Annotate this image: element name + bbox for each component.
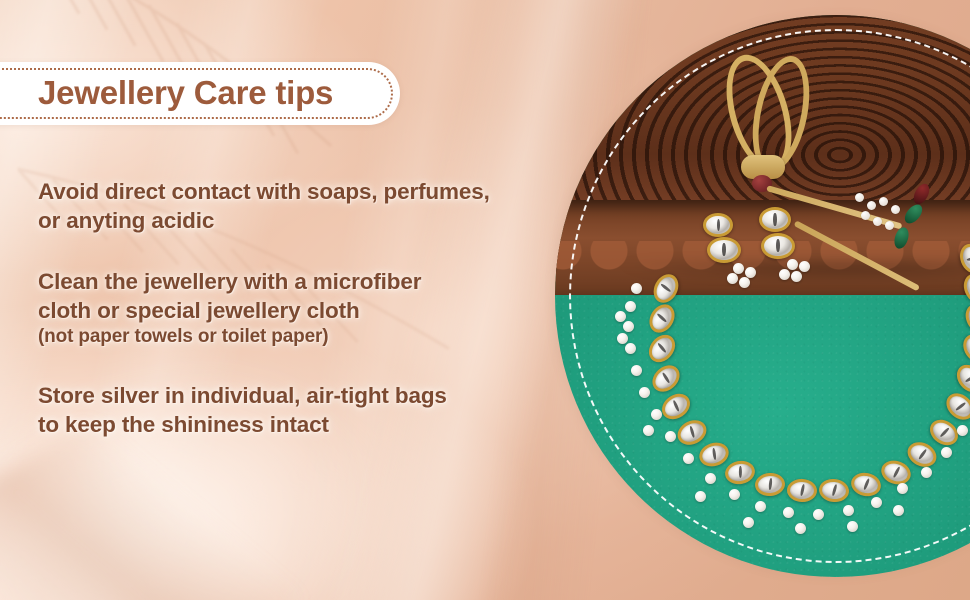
tip-line: Clean the jewellery with a microfiber — [38, 268, 558, 297]
jewellery-photo-circle — [555, 15, 970, 577]
care-tips-list: Avoid direct contact with soaps, perfume… — [38, 178, 558, 440]
pearl-drop — [843, 505, 854, 516]
kundan-stone — [657, 389, 695, 425]
pearl-drop — [893, 505, 904, 516]
page-title: Jewellery Care tips — [38, 74, 333, 112]
pearl-drop — [695, 491, 706, 502]
kundan-stone — [644, 330, 681, 368]
kundan-stone — [959, 270, 970, 307]
tip-line: to keep the shininess intact — [38, 411, 558, 440]
pearl-drop — [623, 321, 634, 332]
pearl-drop — [941, 447, 952, 458]
pearl-drop — [651, 409, 662, 420]
tip-line: Store silver in individual, air-tight ba… — [38, 382, 558, 411]
earring-right-pearl — [779, 269, 790, 280]
tip-line: Avoid direct contact with soaps, perfume… — [38, 178, 558, 207]
kundan-stone — [673, 416, 710, 450]
pearl-drop — [897, 483, 908, 494]
pearl-drop — [631, 365, 642, 376]
kundan-stone — [958, 330, 970, 368]
kundan-stone — [903, 438, 940, 472]
kundan-stone — [961, 300, 970, 337]
pearl-drop — [871, 497, 882, 508]
kundan-stone — [787, 478, 818, 502]
kundan-stone — [723, 459, 757, 487]
tip-avoid-chemicals: Avoid direct contact with soaps, perfume… — [38, 178, 558, 235]
pearl-drop — [615, 311, 626, 322]
earring-left-pearl — [727, 273, 738, 284]
pearl-drop — [847, 521, 858, 532]
pearl-drop — [683, 453, 694, 464]
earring-right-pearl — [791, 271, 802, 282]
pearl-drop — [795, 523, 806, 534]
pearl-drop — [813, 509, 824, 520]
pearl-drop — [643, 425, 654, 436]
earring-right-drop — [761, 233, 795, 259]
earring-left-stud — [703, 213, 733, 237]
pearl-drop — [743, 517, 754, 528]
tip-clean-microfiber: Clean the jewellery with a microfiber cl… — [38, 268, 558, 349]
kundan-stone — [649, 270, 683, 307]
earring-left-pearl — [745, 267, 756, 278]
pearl-drop — [755, 501, 766, 512]
pearl-drop — [665, 431, 676, 442]
earring-right-pearl — [799, 261, 810, 272]
kundan-stone — [956, 240, 970, 276]
jewellery-photo — [555, 15, 970, 577]
kundan-stone — [878, 457, 914, 488]
kundan-stone — [647, 360, 685, 397]
pearl-drop — [921, 467, 932, 478]
kundan-stone — [644, 300, 679, 338]
pearl-drop — [625, 301, 636, 312]
tip-line: or anyting acidic — [38, 207, 558, 236]
tip-line-note: (not paper towels or toilet paper) — [38, 325, 558, 349]
kundan-stone — [952, 360, 970, 398]
pearl-drop — [639, 387, 650, 398]
kundan-stone — [754, 472, 786, 497]
pearl-drop — [631, 283, 642, 294]
earring-right-stud — [759, 207, 791, 232]
jewellery-care-tips-banner: Jewellery Care tips Avoid direct contact… — [0, 0, 970, 600]
tip-line: cloth or special jewellery cloth — [38, 297, 558, 326]
kundan-stone — [818, 477, 850, 503]
tip-store-airtight: Store silver in individual, air-tight ba… — [38, 382, 558, 439]
kundan-stone — [849, 470, 883, 499]
earring-left-pearl — [733, 263, 744, 274]
earring-left-drop — [707, 237, 741, 263]
earring-left-pearl — [739, 277, 750, 288]
pearl-drop — [783, 507, 794, 518]
pearl-drop — [957, 425, 968, 436]
title-badge: Jewellery Care tips — [0, 62, 400, 125]
kundan-necklace — [555, 15, 970, 577]
pearl-drop — [705, 473, 716, 484]
kundan-stone — [696, 439, 732, 470]
earring-right-pearl — [787, 259, 798, 270]
pearl-drop — [729, 489, 740, 500]
pearl-drop — [617, 333, 628, 344]
pearl-drop — [625, 343, 636, 354]
